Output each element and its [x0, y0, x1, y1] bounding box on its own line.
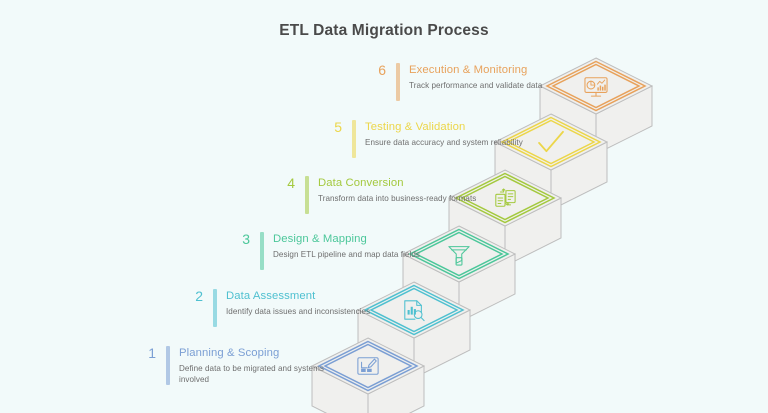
step-description-3: Design ETL pipeline and map data fields [273, 250, 438, 261]
step-text-5: 5 Testing & Validation Ensure data accur… [320, 120, 530, 158]
step-description-2: Identify data issues and inconsistencies [226, 307, 391, 318]
step-number-4: 4 [273, 176, 295, 190]
step-description-5: Ensure data accuracy and system reliabil… [365, 138, 530, 149]
step-accent-bar-4 [305, 176, 309, 214]
step-title-2: Data Assessment [226, 289, 391, 303]
step-number-6: 6 [364, 63, 386, 77]
step-text-6: 6 Execution & Monitoring Track performan… [364, 63, 574, 101]
step-description-1: Define data to be migrated and systems i… [179, 364, 344, 385]
step-title-6: Execution & Monitoring [409, 63, 574, 77]
step-accent-bar-6 [396, 63, 400, 101]
step-text-2: 2 Data Assessment Identify data issues a… [181, 289, 391, 327]
step-number-3: 3 [228, 232, 250, 246]
step-number-2: 2 [181, 289, 203, 303]
step-text-4: 4 Data Conversion Transform data into bu… [273, 176, 483, 214]
step-number-5: 5 [320, 120, 342, 134]
step-accent-bar-3 [260, 232, 264, 270]
step-accent-bar-1 [166, 346, 170, 385]
step-title-3: Design & Mapping [273, 232, 438, 246]
step-number-1: 1 [134, 346, 156, 360]
step-description-4: Transform data into business-ready forma… [318, 194, 483, 205]
step-text-3: 3 Design & Mapping Design ETL pipeline a… [228, 232, 438, 270]
infographic-canvas: ETL Data Migration Process 6 Execution &… [0, 0, 768, 413]
step-text-1: 1 Planning & Scoping Define data to be m… [134, 346, 344, 385]
step-title-4: Data Conversion [318, 176, 483, 190]
step-title-1: Planning & Scoping [179, 346, 344, 360]
step-title-5: Testing & Validation [365, 120, 530, 134]
step-accent-bar-5 [352, 120, 356, 158]
step-description-6: Track performance and validate data [409, 81, 574, 92]
step-accent-bar-2 [213, 289, 217, 327]
